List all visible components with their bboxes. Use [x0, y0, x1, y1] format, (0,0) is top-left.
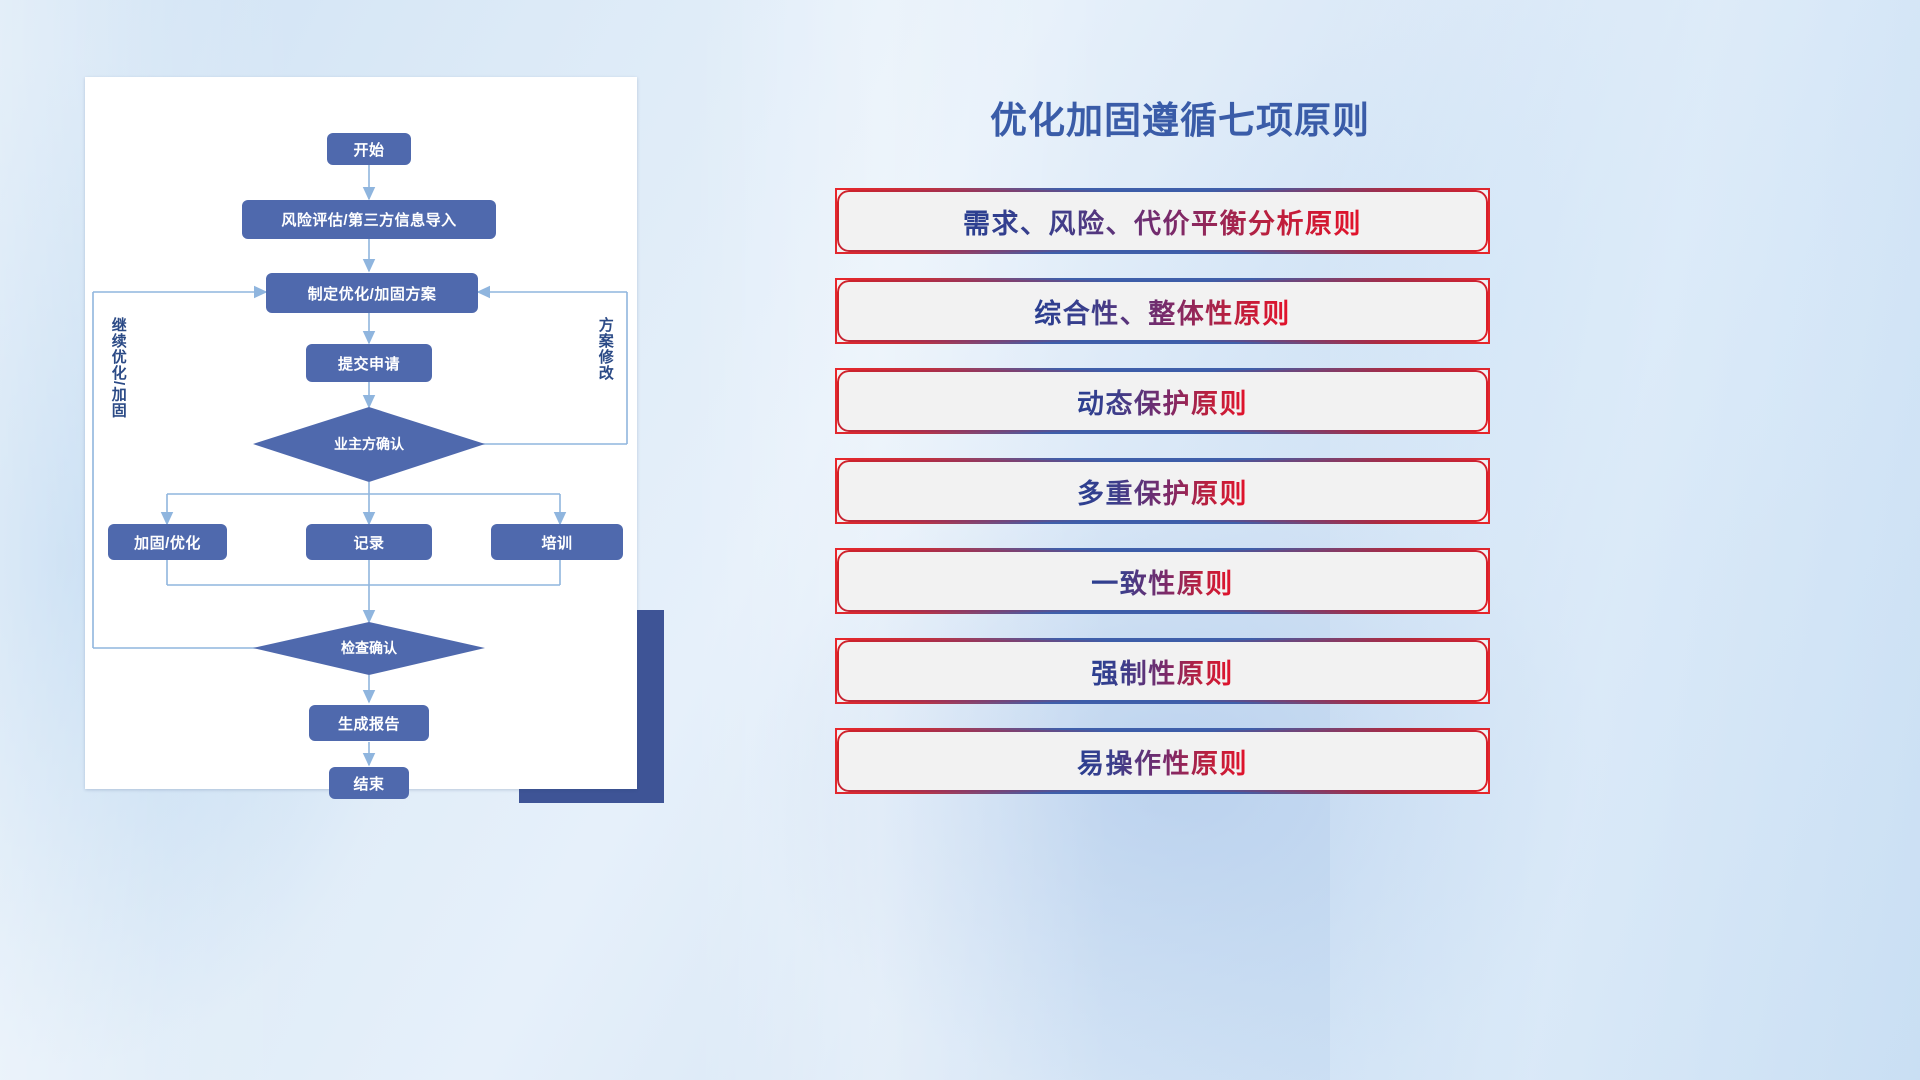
flow-node-record[interactable]: 记录 [306, 524, 432, 560]
flow-node-risk-assessment[interactable]: 风险评估/第三方信息导入 [242, 200, 496, 239]
principles-list: 需求、风险、代价平衡分析原则 综合性、整体性原则 动态保护原则 多重保护原则 一… [835, 188, 1490, 818]
flow-edge-label-right-loop: 方案修改 [597, 317, 613, 417]
flow-node-training-label: 培训 [541, 532, 572, 553]
flow-node-start[interactable]: 开始 [327, 133, 411, 165]
principle-label-2: 综合性、整体性原则 [1034, 292, 1291, 331]
flow-node-plan[interactable]: 制定优化/加固方案 [266, 273, 478, 313]
flow-node-report[interactable]: 生成报告 [309, 705, 429, 741]
principle-label-1: 需求、风险、代价平衡分析原则 [963, 202, 1362, 241]
principle-item-5[interactable]: 一致性原则 [835, 548, 1490, 614]
flow-edge-label-left-loop: 继续优化/加固 [110, 317, 126, 447]
principle-label-5: 一致性原则 [1091, 562, 1234, 601]
flowchart-card: 开始 风险评估/第三方信息导入 制定优化/加固方案 提交申请 业主方确认 加固/… [85, 77, 637, 789]
principle-label-6: 强制性原则 [1091, 652, 1234, 691]
principles-panel: 优化加固遵循七项原则 需求、风险、代价平衡分析原则 综合性、整体性原则 动态保护… [820, 70, 1540, 830]
principle-item-6[interactable]: 强制性原则 [835, 638, 1490, 704]
flow-node-reinforce[interactable]: 加固/优化 [108, 524, 227, 560]
flow-node-training[interactable]: 培训 [491, 524, 623, 560]
flow-node-end-label: 结束 [353, 773, 384, 794]
flow-node-record-label: 记录 [353, 532, 384, 553]
principle-label-7: 易操作性原则 [1077, 742, 1248, 781]
flow-node-submit-label: 提交申请 [338, 353, 400, 374]
flow-node-submit[interactable]: 提交申请 [306, 344, 432, 382]
flow-node-report-label: 生成报告 [338, 713, 400, 734]
principle-item-7[interactable]: 易操作性原则 [835, 728, 1490, 794]
flow-node-end[interactable]: 结束 [329, 767, 409, 799]
principle-item-2[interactable]: 综合性、整体性原则 [835, 278, 1490, 344]
flowchart-connector-layer [85, 77, 637, 789]
principle-item-4[interactable]: 多重保护原则 [835, 458, 1490, 524]
principle-item-3[interactable]: 动态保护原则 [835, 368, 1490, 434]
principles-title: 优化加固遵循七项原则 [820, 90, 1540, 144]
principle-label-3: 动态保护原则 [1077, 382, 1248, 421]
flow-node-risk-assessment-label: 风险评估/第三方信息导入 [281, 209, 456, 230]
principle-label-4: 多重保护原则 [1077, 472, 1248, 511]
flow-node-plan-label: 制定优化/加固方案 [308, 283, 437, 304]
flow-node-start-label: 开始 [353, 139, 384, 160]
flow-node-reinforce-label: 加固/优化 [134, 532, 201, 553]
principle-item-1[interactable]: 需求、风险、代价平衡分析原则 [835, 188, 1490, 254]
